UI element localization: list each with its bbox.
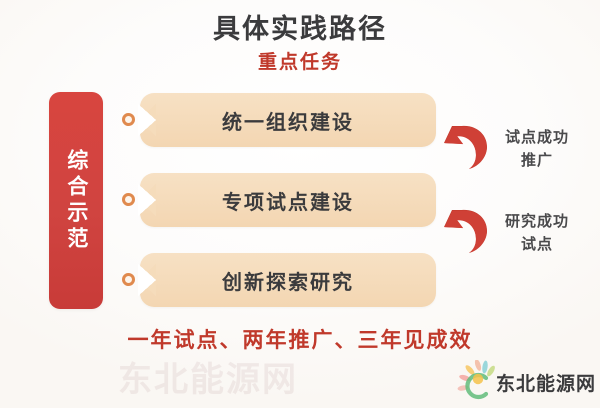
page-subtitle: 重点任务 (0, 47, 600, 74)
sun-leaf-logo-icon (452, 360, 498, 402)
task-card[interactable]: 专项试点建设 (140, 173, 436, 227)
connector-ring-1 (122, 113, 135, 126)
connector-ring-3 (122, 273, 135, 286)
annotation-note: 研究成功 试点 (482, 211, 592, 256)
task-card-label: 创新探索研究 (140, 253, 436, 307)
footer-slogan: 一年试点、两年推广、三年见成效 (0, 324, 600, 354)
annotation-line-2: 推广 (482, 150, 592, 173)
connector-ring-2 (122, 193, 135, 206)
page-title: 具体实践路径 (0, 7, 600, 46)
annotation-note: 试点成功 推广 (482, 127, 592, 172)
background-watermark-text: 东北能源网 (118, 352, 298, 401)
brand-watermark: 东北能源网 (452, 356, 592, 402)
task-card-label: 专项试点建设 (140, 173, 436, 227)
task-card-label: 统一组织建设 (140, 93, 436, 147)
task-card[interactable]: 统一组织建设 (140, 93, 436, 147)
brand-name: 东北能源网 (496, 369, 596, 396)
infographic-canvas: 东北能源网 具体实践路径 重点任务 综合示范 统一组织建设 专项试点建设 创新探… (0, 0, 600, 408)
pillar-label: 综合示范 (49, 92, 103, 309)
annotation-line-1: 研究成功 (482, 211, 592, 234)
annotation-line-2: 试点 (482, 234, 592, 257)
task-card[interactable]: 创新探索研究 (140, 253, 436, 307)
annotation-line-1: 试点成功 (482, 127, 592, 150)
pillar-block: 综合示范 (49, 92, 103, 309)
